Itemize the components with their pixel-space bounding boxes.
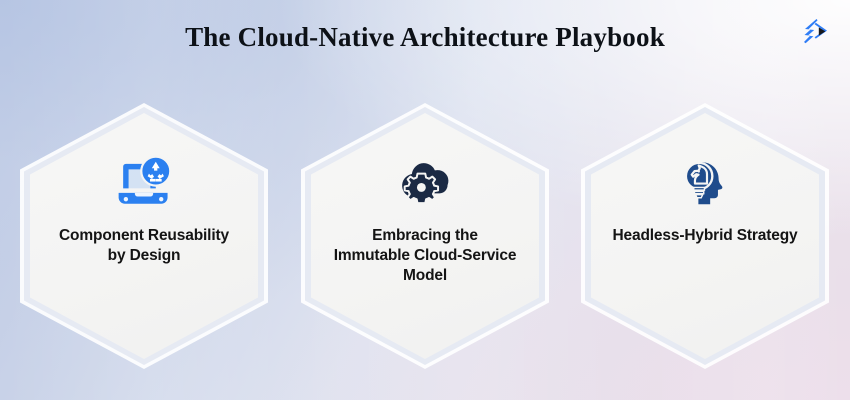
laptop-recycle-icon <box>115 155 173 209</box>
card-label: Embracing the Immutable Cloud-Service Mo… <box>332 226 518 286</box>
page-title: The Cloud-Native Architecture Playbook <box>0 22 850 53</box>
hexagon-cards-row: Component Reusability by Design <box>0 103 850 369</box>
hexagon-card-component-reusability[interactable]: Component Reusability by Design <box>20 103 268 369</box>
hexagon-card-content: Headless-Hybrid Strategy <box>581 103 829 369</box>
hexagon-card-immutable-cloud-service[interactable]: Embracing the Immutable Cloud-Service Mo… <box>301 103 549 369</box>
head-lightbulb-knight-icon <box>676 155 734 209</box>
hexagon-card-content: Embracing the Immutable Cloud-Service Mo… <box>301 103 549 369</box>
brand-logo-icon[interactable] <box>796 14 834 52</box>
cloud-gear-icon <box>396 155 454 209</box>
card-label: Component Reusability by Design <box>51 226 237 266</box>
hexagon-card-content: Component Reusability by Design <box>20 103 268 369</box>
card-label: Headless-Hybrid Strategy <box>612 226 798 246</box>
infographic-root: The Cloud-Native Architecture Playbook <box>0 0 850 400</box>
hexagon-card-headless-hybrid[interactable]: Headless-Hybrid Strategy <box>581 103 829 369</box>
